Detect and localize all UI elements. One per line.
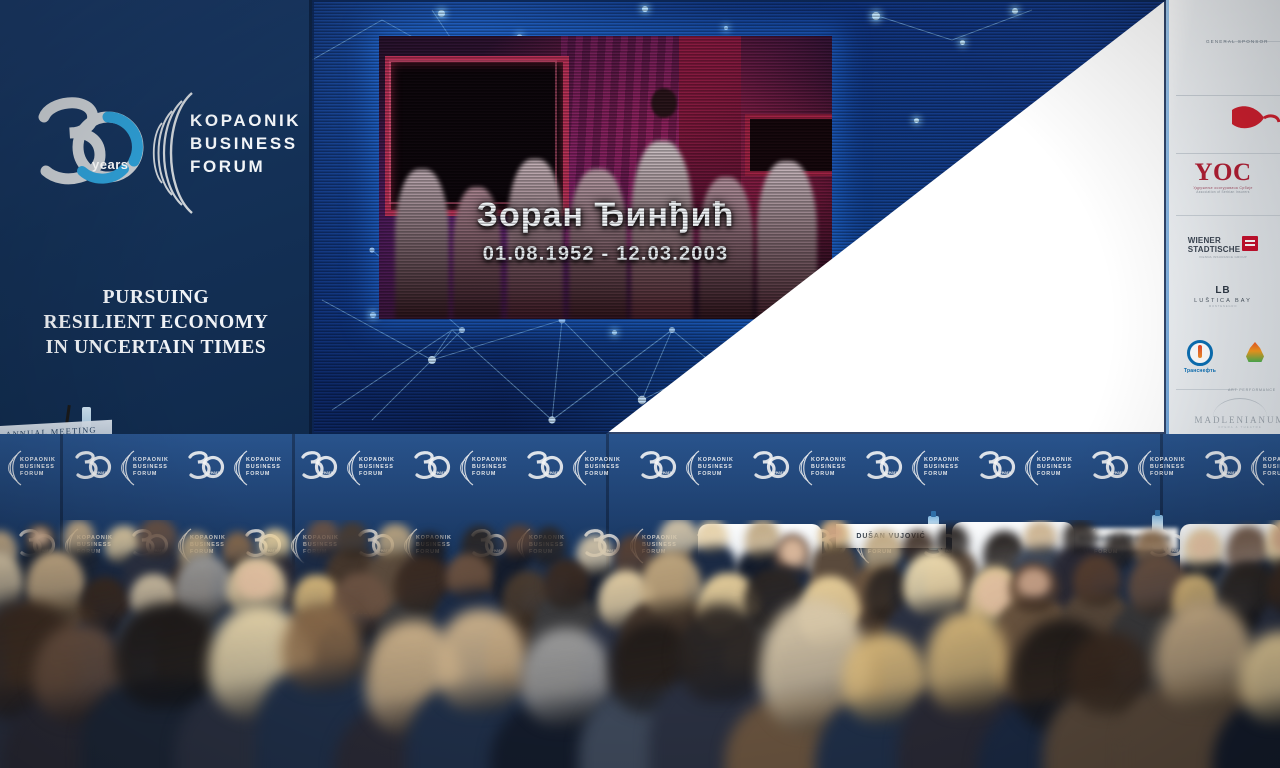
- yoc-subtitle-english: Association of Serbian Insurers: [1166, 190, 1280, 194]
- audience-person-head: [1063, 520, 1098, 553]
- audience-person-head: [236, 563, 276, 598]
- yoc-wordmark: YOC: [1166, 160, 1280, 185]
- art-performance-label: ART PERFORMANCE: [1228, 388, 1276, 392]
- audience-person-head: [677, 604, 764, 702]
- slide-title-serbian-line-3: ZORAN ĐINĐIĆ: [988, 171, 1166, 209]
- audience-person-head: [63, 520, 95, 556]
- audience-person-head: [114, 604, 219, 708]
- sponsor-logo-flame: [1232, 342, 1278, 362]
- audience-person-head: [282, 605, 363, 691]
- flame-icon: [1246, 342, 1264, 362]
- led-presentation-screen: Зоран Ђинђић 01.08.1952 - 12.03.2003 TAK…: [312, 0, 1166, 434]
- wiener-subtitle: VIENNA INSURANCE GROUP: [1170, 255, 1276, 259]
- slide-title-english-line-2: ZORAN ĐINĐIĆ: [988, 270, 1166, 306]
- slide-title-english-line-1: THUS SPOKE: [988, 234, 1166, 270]
- logo-word-forum: FORUM: [190, 155, 301, 178]
- sponsor-logo-madlenianum: MADLENIANUM OPERA & THEATRE: [1190, 398, 1280, 429]
- tagline-line-2: RESILIENT ECONOMY: [0, 310, 312, 335]
- general-sponsor-label: GENERAL SPONSOR: [1206, 39, 1269, 44]
- tagline-line-3: IN UNCERTAIN TIMES: [0, 335, 312, 360]
- wiener-line-1: WIENER: [1188, 236, 1221, 245]
- lustica-subtitle: MONTENEGRO: [1170, 304, 1276, 308]
- logo-word-business: BUSINESS: [190, 132, 301, 155]
- tagline-line-1: PURSUING: [0, 285, 312, 310]
- wiener-line-2: STADTISCHE: [1188, 245, 1241, 254]
- conference-hall-photo: years KOPAONIK BUSINESS FORUM PURSUING R…: [0, 0, 1280, 768]
- sponsor-wall: GENERAL SPONSOR YOC Удружење осигуравача…: [1166, 0, 1280, 434]
- logo-wordmark: KOPAONIK BUSINESS FORUM: [190, 109, 301, 178]
- audience-person-head: [30, 528, 50, 545]
- sponsor-logo-wiener-stadtische: WIENER STADTISCHE VIENNA INSURANCE GROUP: [1170, 236, 1276, 259]
- audience-person-head: [1024, 521, 1057, 553]
- slide-title-english: THUS SPOKE ZORAN ĐINĐIĆ: [988, 234, 1166, 306]
- general-sponsor-icon: [1224, 104, 1280, 138]
- slide-title-serbian-line-1: TAKO JE: [988, 95, 1166, 133]
- logo-years-label: years: [92, 157, 128, 172]
- audience-person-head: [446, 554, 490, 598]
- transneft-name: Транснефть: [1174, 368, 1226, 374]
- sponsor-logo-yoc: YOC Удружење осигуравача Србије Associat…: [1166, 160, 1280, 194]
- divider: [1176, 95, 1280, 96]
- sponsor-logo-transneft: Транснефть: [1174, 340, 1226, 374]
- audience-person-head: [336, 522, 370, 559]
- audience-person-head: [824, 523, 844, 541]
- wiener-wordmark: WIENER STADTISCHE: [1188, 236, 1241, 254]
- audience-person-head: [377, 524, 413, 560]
- madlenianum-name: MADLENIANUM: [1190, 415, 1280, 425]
- audience-seating: [0, 520, 1280, 768]
- audience-person-head: [641, 553, 702, 616]
- sponsor-logo-lustica-bay: LB LUŠTICA BAY MONTENEGRO: [1170, 285, 1276, 308]
- audience-person-head: [1154, 601, 1254, 711]
- audience-person-head: [903, 552, 963, 616]
- audience-person-head: [925, 611, 1009, 714]
- audience-person-head: [1017, 568, 1050, 596]
- slide-title-serbian-line-2: GOVORIO: [988, 133, 1166, 171]
- sponsor-wall-edge: [1166, 0, 1169, 434]
- audience-person-head: [502, 525, 537, 559]
- sponsor-logo-general: [1224, 104, 1280, 143]
- audience-person-head: [137, 520, 178, 558]
- audience-person-head: [1190, 533, 1216, 557]
- audience-person-head: [259, 529, 292, 561]
- kopaonik-forum-logo: years KOPAONIK BUSINESS FORUM: [30, 95, 280, 210]
- divider: [1176, 215, 1280, 216]
- transneft-icon: [1187, 340, 1213, 366]
- madlenianum-subtitle: OPERA & THEATRE: [1190, 425, 1280, 429]
- thirty-years-icon: [30, 95, 150, 195]
- left-branding-wall: years KOPAONIK BUSINESS FORUM PURSUING R…: [0, 0, 312, 440]
- divider: [1176, 153, 1280, 154]
- lustica-monogram: LB: [1170, 285, 1276, 296]
- conference-tagline: PURSUING RESILIENT ECONOMY IN UNCERTAIN …: [0, 285, 312, 360]
- audience-person-head: [435, 609, 526, 712]
- logo-word-kopaonik: KOPAONIK: [190, 109, 301, 132]
- wiener-mark-icon: [1242, 236, 1258, 251]
- audience-person-head: [544, 559, 590, 609]
- audience-person-head: [780, 538, 805, 564]
- audience-person-head: [1073, 555, 1121, 606]
- slide-title-serbian: TAKO JE GOVORIO ZORAN ĐINĐIĆ: [988, 95, 1166, 209]
- audience-person-head: [696, 520, 728, 553]
